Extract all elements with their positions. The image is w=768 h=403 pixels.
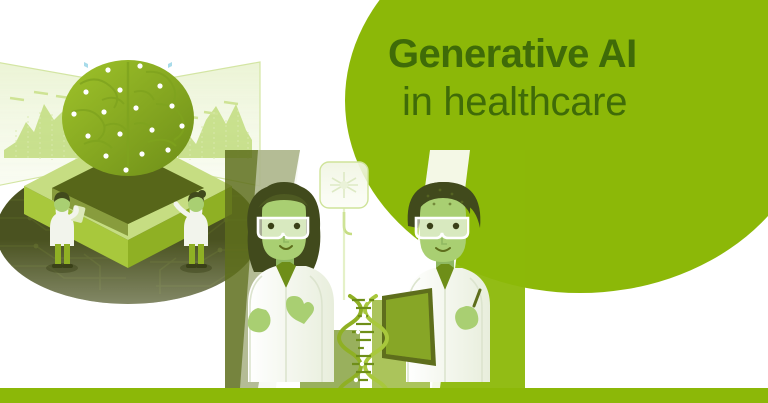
analyst-figure-left [46,192,86,273]
female-scientist [247,182,334,382]
bottom-accent-bar [0,388,768,403]
ai-brain [62,60,194,176]
analyst-figure-right [176,190,212,273]
dna-helix [339,296,387,400]
title-line-secondary: in healthcare [402,82,748,122]
page-title: Generative AI in healthcare [388,34,748,122]
safety-goggles-female [258,218,308,238]
platform-floor [0,160,270,304]
chip-platform [24,132,232,268]
brain-neural-nodes [71,63,184,172]
holo-chart-left-screen [0,62,88,186]
tablet-device [382,288,436,366]
holo-chart-right-screen [168,62,260,186]
hologram-card [320,162,368,300]
title-line-primary: Generative AI [388,34,748,74]
generative-ai-healthcare-banner: Generative AI in healthcare [0,0,768,403]
